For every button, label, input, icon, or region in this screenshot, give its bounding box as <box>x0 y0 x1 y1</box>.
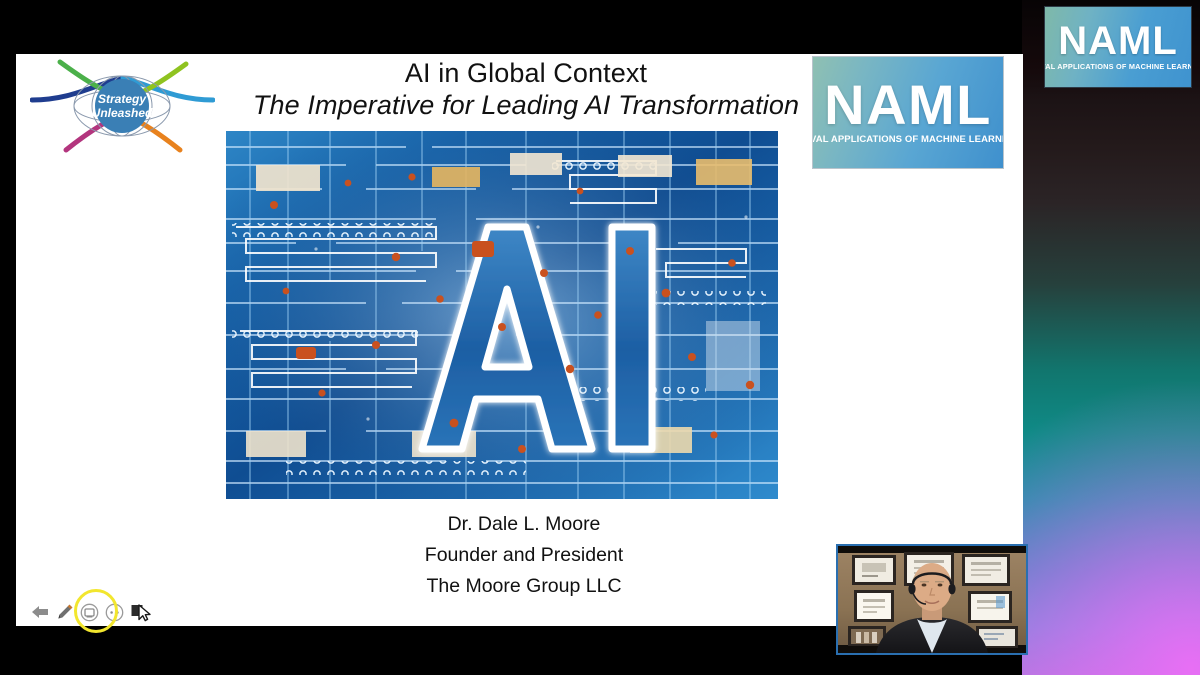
presenter-organization: The Moore Group LLC <box>204 571 844 602</box>
pen-icon[interactable] <box>55 603 74 622</box>
presenter-block: Dr. Dale L. Moore Founder and President … <box>204 509 844 602</box>
strategy-unleashed-line2: Unleashed <box>92 106 153 120</box>
slide-title: AI in Global Context <box>206 58 846 89</box>
strategy-unleashed-line1: Strategy <box>98 92 147 106</box>
click-highlight-ring <box>74 589 118 633</box>
corner-naml-subtitle: NAVAL APPLICATIONS OF MACHINE LEARNING <box>1044 62 1192 71</box>
presenter-video-thumbnail[interactable] <box>836 544 1028 655</box>
corner-naml-wordmark: NAML <box>1058 23 1178 60</box>
slide-naml-subtitle: NAVAL APPLICATIONS OF MACHINE LEARNING <box>812 134 1004 145</box>
slide-subtitle: The Imperative for Leading AI Transforma… <box>166 90 886 121</box>
virtual-background-gradient-panel <box>1022 0 1200 675</box>
slide-naml-logo: NAML NAVAL APPLICATIONS OF MACHINE LEARN… <box>812 56 1004 169</box>
presentation-slide[interactable]: Strategy Unleashed AI in Global Context … <box>16 54 1023 626</box>
presenter-name: Dr. Dale L. Moore <box>204 509 844 540</box>
screen-share-stage: NAML NAVAL APPLICATIONS OF MACHINE LEARN… <box>0 0 1200 675</box>
back-arrow-icon[interactable] <box>30 603 49 622</box>
ai-circuit-board-image: AI <box>226 131 778 499</box>
presenter-title: Founder and President <box>204 540 844 571</box>
cursor-pointer-icon[interactable] <box>130 601 152 623</box>
corner-naml-badge: NAML NAVAL APPLICATIONS OF MACHINE LEARN… <box>1044 6 1192 88</box>
slide-naml-wordmark: NAML <box>824 80 992 130</box>
